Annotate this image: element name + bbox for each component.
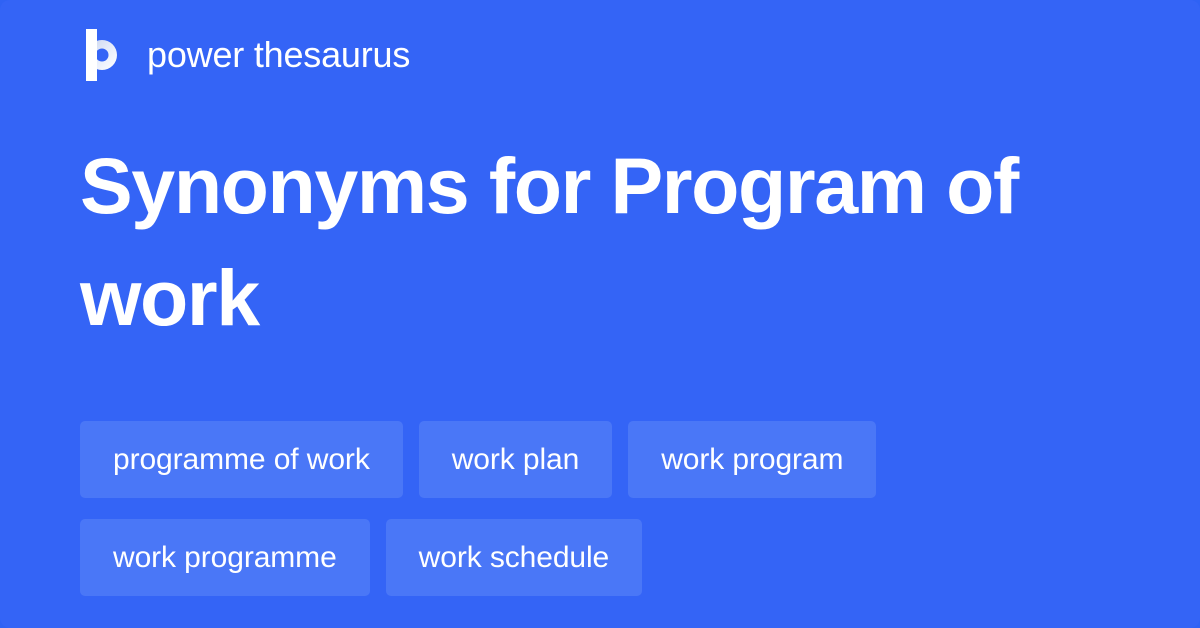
synonym-chip[interactable]: work program [628,421,876,498]
power-thesaurus-b-logo-icon [80,29,126,81]
brand-logo[interactable]: power thesaurus [80,27,410,83]
synonym-chip-list: programme of work work plan work program… [80,421,1120,596]
brand-name-part2: thesaurus [254,34,410,75]
synonym-chip[interactable]: programme of work [80,421,403,498]
share-card: power thesaurus Synonyms for Program of … [0,0,1200,628]
synonym-chip[interactable]: work plan [419,421,613,498]
brand-name: power thesaurus [147,37,410,73]
page-title: Synonyms for Program of work [80,130,1120,354]
brand-name-part1: power [147,34,254,75]
synonym-chip[interactable]: work programme [80,519,370,596]
synonym-chip[interactable]: work schedule [386,519,642,596]
